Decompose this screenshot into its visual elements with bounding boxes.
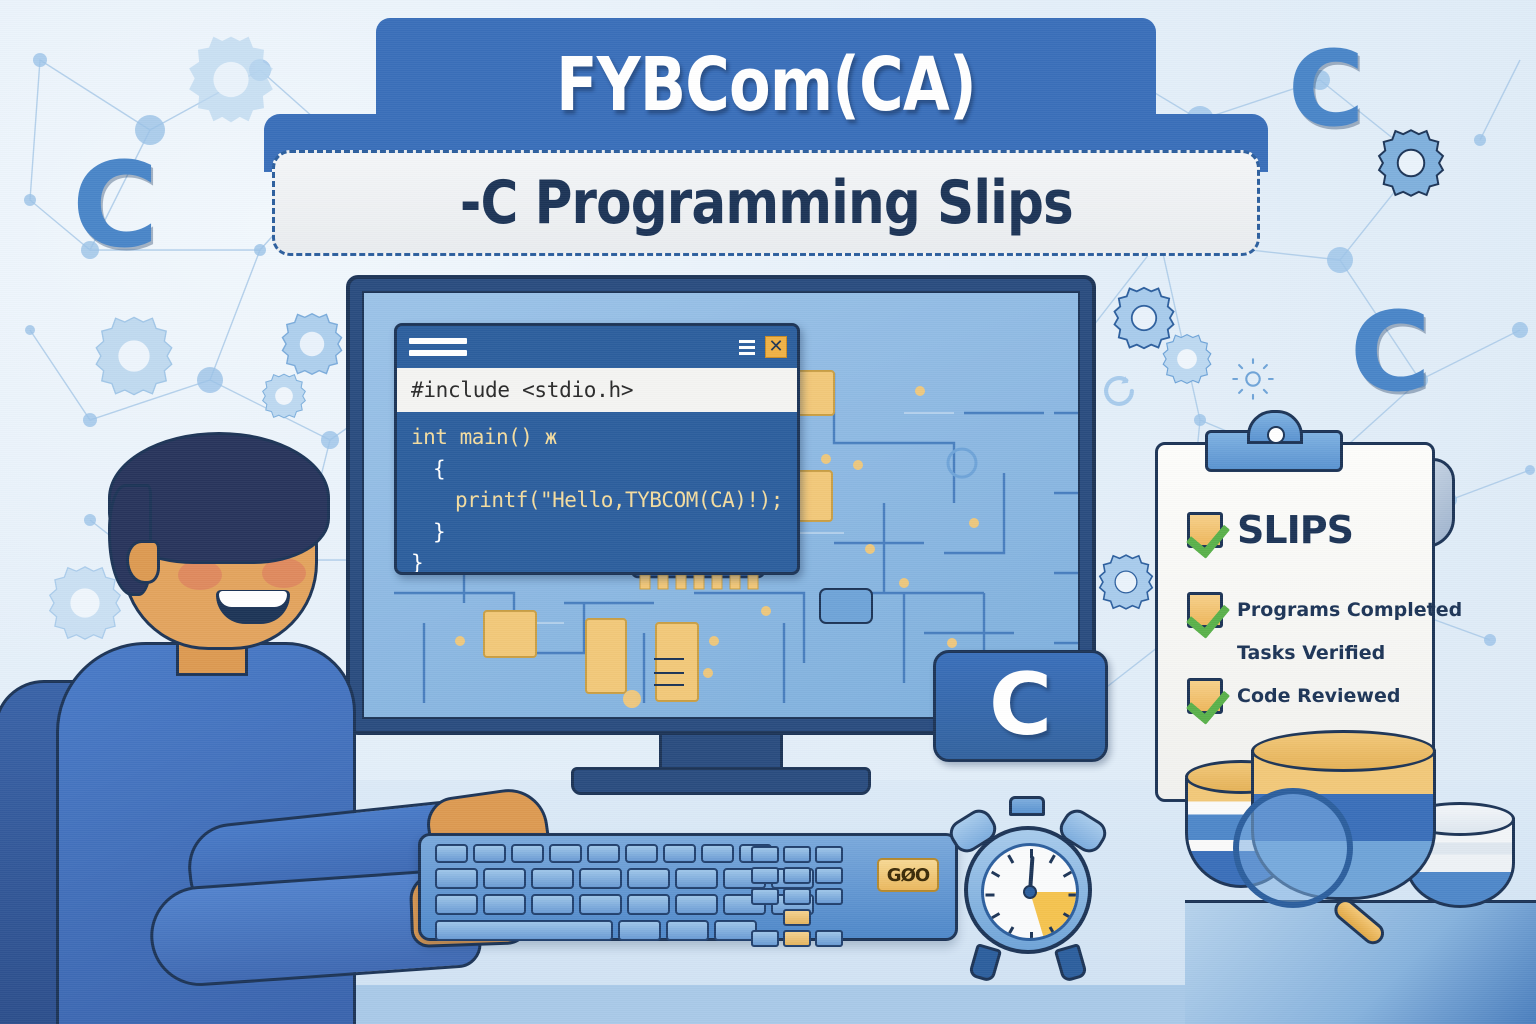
numpad-row bbox=[783, 909, 843, 926]
key[interactable] bbox=[627, 868, 670, 889]
c-language-badge: C bbox=[933, 650, 1108, 762]
clipboard-item-row: Programs Completed bbox=[1187, 592, 1462, 628]
numpad-row bbox=[751, 930, 843, 947]
key[interactable] bbox=[549, 844, 582, 863]
monitor-neck bbox=[659, 730, 783, 772]
go-key[interactable]: GØO bbox=[877, 858, 939, 892]
magnifier-icon bbox=[1233, 788, 1353, 908]
gear-icon bbox=[1158, 330, 1216, 388]
window-controls: ✕ bbox=[739, 336, 787, 358]
clock-tick bbox=[1049, 854, 1056, 863]
gear-icon bbox=[1372, 124, 1450, 202]
key[interactable] bbox=[435, 868, 478, 889]
monitor-base bbox=[571, 767, 871, 795]
space-key[interactable] bbox=[435, 920, 613, 941]
key[interactable] bbox=[435, 894, 478, 915]
clipboard-item-row: Code Reviewed bbox=[1187, 678, 1400, 714]
key[interactable] bbox=[473, 844, 506, 863]
key[interactable] bbox=[675, 868, 718, 889]
refresh-icon bbox=[1096, 368, 1142, 414]
numpad-key[interactable] bbox=[783, 846, 811, 863]
clipboard-item-label: Tasks Verified bbox=[1237, 642, 1385, 664]
checkbox-checked-icon[interactable] bbox=[1187, 512, 1223, 548]
clock-tick bbox=[1007, 926, 1014, 935]
numpad-key-accent[interactable] bbox=[783, 930, 811, 947]
page-title: FYBCom(CA) bbox=[446, 30, 1086, 140]
key[interactable] bbox=[579, 868, 622, 889]
alarm-clock-icon bbox=[952, 800, 1104, 982]
decor-letter-c-topright: C bbox=[1288, 48, 1364, 131]
clock-tick bbox=[1069, 894, 1078, 897]
gear-icon bbox=[258, 370, 310, 422]
clock-tick bbox=[986, 894, 995, 897]
magnifier-lens bbox=[1233, 788, 1353, 908]
key[interactable] bbox=[531, 868, 574, 889]
titlebar-lines-icon bbox=[409, 338, 467, 356]
clipboard-item-label: Programs Completed bbox=[1237, 599, 1462, 621]
clock-face bbox=[981, 843, 1079, 941]
numpad-key[interactable] bbox=[751, 888, 779, 905]
numpad-row bbox=[751, 867, 843, 884]
numpad-key[interactable] bbox=[783, 867, 811, 884]
numpad-row bbox=[751, 846, 843, 863]
key[interactable] bbox=[618, 920, 661, 941]
numpad-key[interactable] bbox=[751, 846, 779, 863]
header-banner: FYBCom(CA) -C Programming Slips bbox=[264, 18, 1268, 258]
ear bbox=[126, 540, 160, 584]
clock-button bbox=[1009, 796, 1045, 816]
clock-foot-right bbox=[1054, 943, 1088, 983]
numpad-row bbox=[751, 888, 843, 905]
decor-letter-c-left: C bbox=[72, 158, 159, 252]
clock-tick bbox=[991, 912, 1000, 919]
key[interactable] bbox=[701, 844, 734, 863]
gear-icon bbox=[1094, 550, 1158, 614]
numpad-key[interactable] bbox=[815, 930, 843, 947]
clipboard-clip-hole bbox=[1267, 426, 1285, 444]
clock-body bbox=[964, 826, 1092, 954]
key[interactable] bbox=[666, 920, 709, 941]
clipboard-item-label: Code Reviewed bbox=[1237, 685, 1400, 707]
key[interactable] bbox=[531, 894, 574, 915]
numpad-key-accent[interactable] bbox=[783, 909, 811, 926]
checkbox-checked-icon[interactable] bbox=[1187, 592, 1223, 628]
clock-tick bbox=[1030, 932, 1033, 941]
key[interactable] bbox=[627, 894, 670, 915]
poster-canvas: C C C FYBCom(CA) -C Programming Slips bbox=[0, 0, 1536, 1024]
key[interactable] bbox=[625, 844, 658, 863]
key[interactable] bbox=[587, 844, 620, 863]
code-line-include: #include <stdio.h> bbox=[397, 368, 797, 412]
clock-foot-left bbox=[968, 943, 1002, 983]
close-icon[interactable]: ✕ bbox=[765, 336, 787, 358]
numpad-key[interactable] bbox=[815, 888, 843, 905]
checkbox-checked-icon[interactable] bbox=[1187, 678, 1223, 714]
clock-tick bbox=[1063, 871, 1072, 878]
clock-tick bbox=[1007, 854, 1014, 863]
keyboard-numpad[interactable] bbox=[751, 846, 843, 951]
clipboard-title: SLIPS bbox=[1237, 508, 1353, 552]
clipboard-item-row: Tasks Verified bbox=[1237, 642, 1385, 664]
numpad-key[interactable] bbox=[751, 867, 779, 884]
decor-letter-c-right: C bbox=[1350, 308, 1431, 396]
subtitle-panel: -C Programming Slips bbox=[272, 150, 1260, 256]
key[interactable] bbox=[483, 868, 526, 889]
numpad-key[interactable] bbox=[815, 867, 843, 884]
key[interactable] bbox=[579, 894, 622, 915]
clock-tick bbox=[991, 871, 1000, 878]
numpad-key[interactable] bbox=[751, 930, 779, 947]
key[interactable] bbox=[511, 844, 544, 863]
window-titlebar: ✕ bbox=[397, 326, 797, 368]
page-subtitle: -C Programming Slips bbox=[459, 168, 1072, 238]
numpad-key[interactable] bbox=[815, 846, 843, 863]
teeth bbox=[219, 591, 287, 607]
key[interactable] bbox=[435, 844, 468, 863]
clipboard-title-row: SLIPS bbox=[1187, 508, 1353, 552]
clock-center-pin bbox=[1023, 885, 1037, 899]
key[interactable] bbox=[663, 844, 696, 863]
sun-burst-icon bbox=[1232, 358, 1274, 400]
keyboard[interactable]: GØO bbox=[418, 833, 958, 941]
key[interactable] bbox=[483, 894, 526, 915]
key[interactable] bbox=[675, 894, 718, 915]
gear-icon bbox=[88, 310, 180, 402]
database-icon-group bbox=[1185, 730, 1515, 915]
numpad-key[interactable] bbox=[783, 888, 811, 905]
c-badge-letter: C bbox=[989, 669, 1052, 742]
cheek-left bbox=[178, 560, 222, 590]
hamburger-icon[interactable] bbox=[739, 340, 755, 355]
